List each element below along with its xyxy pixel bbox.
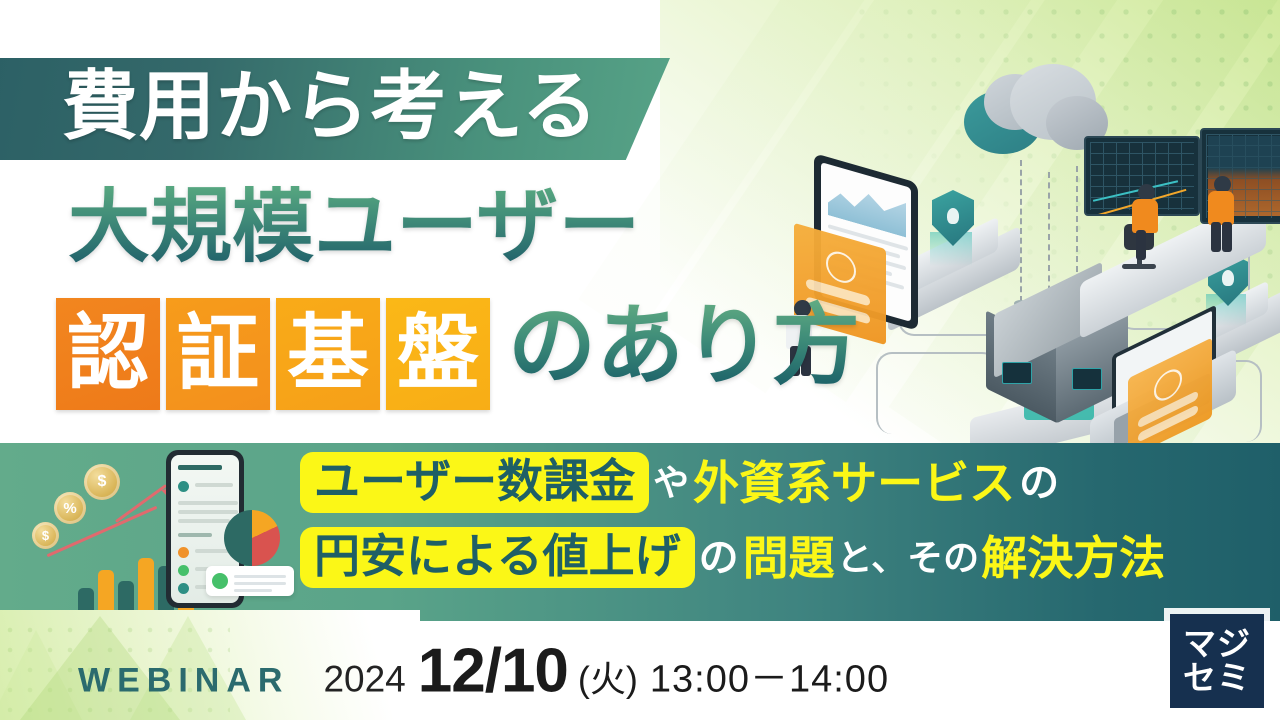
magiseminar-logo[interactable]: マジ セミ — [1170, 614, 1264, 708]
bar-chart-bar — [98, 570, 114, 614]
webinar-banner: 費用から考える 大規模ユーザー 認 証 基 盤 のあり方 % $ $ — [0, 0, 1280, 720]
bar-chart-bar — [138, 558, 154, 614]
webinar-label: WEBINAR — [78, 661, 289, 700]
headline-line-2: 大規模ユーザー — [68, 186, 640, 268]
year-label: 2024 — [323, 658, 405, 700]
boxed-char-3: 基 — [276, 298, 380, 410]
subhead-accent-2b: 解決方法 — [981, 535, 1165, 581]
subhead-accent-1a: 外資系サービス — [693, 460, 1015, 506]
date-label: 12/10 — [418, 635, 568, 706]
headline-line-3-suffix: のあり方 — [508, 298, 860, 395]
data-flow-line — [1048, 172, 1050, 302]
coin-dollar-icon: $ — [84, 464, 120, 500]
subhead-plain-1a: や — [653, 465, 689, 501]
headline-line-3: 認 証 基 盤 のあり方 — [56, 298, 860, 410]
subhead-highlight-1: ユーザー数課金 — [300, 452, 649, 513]
pie-chart — [224, 510, 280, 566]
day-of-week-label: (火) — [578, 650, 638, 702]
subhead-row-2: 円安による値上げ の 問題 と、その 解決方法 — [300, 527, 1260, 588]
date-line: WEBINAR 2024 12/10 (火) 13:00－14:00 — [78, 635, 889, 706]
headline-band-1: 費用から考える — [0, 58, 670, 160]
date-bar: WEBINAR 2024 12/10 (火) 13:00－14:00 — [0, 621, 1280, 720]
headline-line-1: 費用から考える — [62, 69, 599, 145]
boxed-char-1: 認 — [56, 298, 160, 410]
time-label: 13:00－14:00 — [650, 647, 889, 702]
boxed-char-4: 盤 — [386, 298, 490, 410]
coin-dollar-icon-2: $ — [32, 522, 59, 549]
subhead-plain-2a: の — [699, 538, 739, 578]
finance-illustration: % $ $ — [18, 444, 308, 622]
coin-percent-icon: % — [54, 492, 86, 524]
subhead-plain-1b: の — [1019, 463, 1059, 503]
trend-arrow-segment — [115, 484, 167, 523]
subhead-text: ユーザー数課金 や 外資系サービス の 円安による値上げ の 問題 と、その 解… — [300, 452, 1260, 588]
analytics-workstation — [1080, 128, 1280, 308]
logo-line-1: マジ — [1183, 627, 1251, 661]
boxed-char-2: 証 — [166, 298, 270, 410]
subhead-row-1: ユーザー数課金 や 外資系サービス の — [300, 452, 1260, 513]
logo-line-2: セミ — [1183, 661, 1251, 695]
check-icon — [212, 573, 228, 589]
subhead-accent-2a: 問題 — [743, 535, 835, 581]
laptop-login — [1086, 330, 1236, 446]
notification-toast — [206, 566, 294, 596]
subhead-highlight-2: 円安による値上げ — [300, 527, 695, 588]
subhead-plain-2b: と、その — [837, 540, 980, 576]
